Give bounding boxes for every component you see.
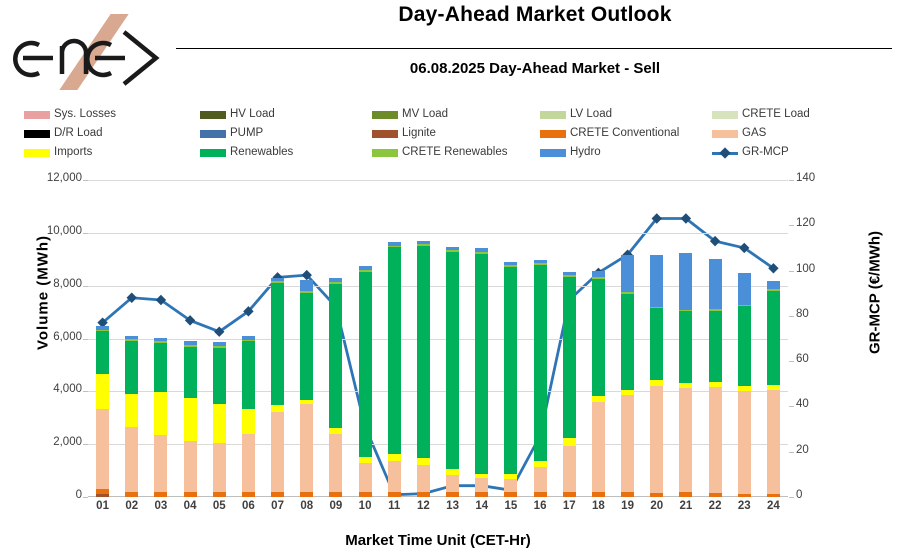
legend-item-d-r-load[interactable]: D/R Load: [24, 125, 103, 143]
y-axis-left-tickmark: [83, 391, 88, 392]
bar-segment-gas: [504, 479, 517, 492]
bar-segment-crete-conventional: [125, 492, 138, 497]
bar-segment-imports: [184, 398, 197, 442]
y-axis-right-tickmark: [789, 271, 794, 272]
legend-item-label: CRETE Renewables: [402, 147, 507, 159]
mcp-marker-24[interactable]: [768, 263, 778, 273]
bar-segment-gas: [592, 402, 605, 492]
bar-segment-imports: [125, 394, 138, 427]
x-axis-tick-20: 20: [643, 500, 671, 512]
bar-hour-19[interactable]: [621, 255, 634, 497]
legend-item-renewables[interactable]: Renewables: [200, 144, 293, 162]
y-axis-left-tickmark: [83, 233, 88, 234]
bar-segment-crete-conventional: [475, 492, 488, 497]
bar-hour-12[interactable]: [417, 241, 430, 497]
bar-segment-crete-conventional: [679, 492, 692, 497]
stacked-bar-chart: Volume (MWh) GR-MCP (€/MWh) Market Time …: [0, 164, 908, 558]
y-axis-right-tickmark: [789, 361, 794, 362]
bar-segment-renewables: [388, 247, 401, 454]
y-axis-left-tickmark: [83, 180, 88, 181]
x-axis-tick-16: 16: [526, 500, 554, 512]
x-axis-tick-04: 04: [176, 500, 204, 512]
legend-item-crete-load[interactable]: CRETE Load: [712, 106, 810, 124]
legend-item-pump[interactable]: PUMP: [200, 125, 263, 143]
bar-segment-crete-conventional: [767, 494, 780, 497]
bar-segment-gas: [738, 391, 751, 494]
bar-segment-imports: [388, 454, 401, 461]
mcp-marker-08[interactable]: [302, 270, 312, 280]
y-axis-right-tick: 20: [796, 444, 836, 456]
legend-item-imports[interactable]: Imports: [24, 144, 92, 162]
mcp-marker-03[interactable]: [156, 295, 166, 305]
bar-segment-crete-conventional: [504, 492, 517, 497]
legend-item-gr-mcp[interactable]: GR-MCP: [712, 144, 789, 162]
bar-segment-imports: [154, 392, 167, 435]
bar-segment-crete-conventional: [359, 492, 372, 497]
bar-segment-gas: [679, 388, 692, 493]
enex-logo-mark: [6, 14, 172, 90]
bar-hour-02[interactable]: [125, 336, 138, 497]
bar-segment-crete-conventional: [592, 492, 605, 497]
legend-swatch: [372, 130, 398, 138]
bar-segment-renewables: [504, 267, 517, 475]
bar-segment-renewables: [184, 347, 197, 398]
bar-segment-renewables: [329, 284, 342, 428]
bar-hour-09[interactable]: [329, 278, 342, 497]
legend-swatch: [540, 130, 566, 138]
bar-segment-gas: [650, 386, 663, 493]
bar-segment-gas: [709, 387, 722, 493]
bar-segment-crete-conventional: [184, 492, 197, 497]
x-axis-tick-24: 24: [759, 500, 787, 512]
legend-item-label: Sys. Losses: [54, 109, 116, 121]
legend-swatch: [712, 111, 738, 119]
legend-item-label: GAS: [742, 128, 766, 140]
gridline: [88, 233, 788, 234]
bar-segment-gas: [417, 465, 430, 492]
bar-segment-renewables: [563, 277, 576, 438]
bar-segment-gas: [388, 461, 401, 492]
y-axis-right-tick: 0: [796, 489, 836, 501]
mcp-marker-05[interactable]: [214, 327, 224, 337]
legend-swatch: [540, 149, 566, 157]
bar-segment-crete-conventional: [650, 493, 663, 497]
bar-segment-gas: [213, 443, 226, 492]
bar-segment-renewables: [271, 283, 284, 405]
bar-segment-renewables: [679, 311, 692, 382]
bar-segment-hydro: [767, 281, 780, 289]
plot-area: [88, 180, 788, 497]
legend-row-1: Sys. LossesHV LoadMV LoadLV LoadCRETE Lo…: [0, 106, 908, 124]
y-axis-right-tick: 60: [796, 353, 836, 365]
bar-segment-crete-conventional: [388, 492, 401, 497]
x-axis-tick-21: 21: [672, 500, 700, 512]
mcp-marker-06[interactable]: [243, 306, 253, 316]
mcp-marker-23[interactable]: [739, 243, 749, 253]
y-axis-right-tickmark: [789, 406, 794, 407]
y-axis-right-tickmark: [789, 497, 794, 498]
bar-segment-crete-conventional: [534, 492, 547, 497]
x-axis-tick-14: 14: [468, 500, 496, 512]
bar-segment-renewables: [621, 294, 634, 390]
bar-segment-imports: [563, 438, 576, 446]
x-axis-tick-08: 08: [293, 500, 321, 512]
y-axis-left-tickmark: [83, 339, 88, 340]
y-axis-right-tick: 100: [796, 263, 836, 275]
bar-segment-renewables: [446, 252, 459, 469]
x-axis-tick-05: 05: [205, 500, 233, 512]
mcp-marker-22[interactable]: [710, 236, 720, 246]
bar-segment-crete-conventional: [154, 492, 167, 497]
bar-segment-renewables: [96, 331, 109, 373]
mcp-marker-21[interactable]: [681, 213, 691, 223]
bar-segment-crete-conventional: [329, 492, 342, 497]
y-axis-right-label: GR-MCP (€/MWh): [867, 188, 884, 398]
legend-item-label: Lignite: [402, 128, 436, 140]
bar-hour-06[interactable]: [242, 336, 255, 497]
legend-item-label: Imports: [54, 147, 92, 159]
legend-item-crete-conventional[interactable]: CRETE Conventional: [540, 125, 679, 143]
bar-segment-renewables: [213, 348, 226, 405]
y-axis-left-tick: 12,000: [26, 172, 82, 184]
bar-segment-renewables: [738, 306, 751, 385]
enex-logo: [6, 14, 172, 90]
bar-hour-22[interactable]: [709, 259, 722, 497]
bar-hour-11[interactable]: [388, 242, 401, 497]
mcp-line-path: [103, 218, 774, 494]
y-axis-right-tick: 40: [796, 398, 836, 410]
legend-swatch: [24, 111, 50, 119]
legend-swatch: [200, 130, 226, 138]
bar-segment-gas: [329, 434, 342, 492]
y-axis-right-tick: 140: [796, 172, 836, 184]
x-axis-tick-15: 15: [497, 500, 525, 512]
legend-item-label: HV Load: [230, 109, 275, 121]
bar-segment-renewables: [475, 254, 488, 474]
bar-segment-crete-conventional: [563, 492, 576, 497]
y-axis-left-tickmark: [83, 286, 88, 287]
y-axis-left-tick: 4,000: [26, 383, 82, 395]
legend-swatch: [24, 149, 50, 157]
legend-swatch: [200, 111, 226, 119]
bar-segment-renewables: [417, 246, 430, 458]
bar-segment-imports: [213, 404, 226, 443]
bar-segment-imports: [271, 405, 284, 412]
bar-segment-crete-conventional: [446, 492, 459, 497]
bar-hour-21[interactable]: [679, 253, 692, 497]
bar-segment-gas: [621, 395, 634, 492]
bar-segment-gas: [184, 441, 197, 492]
bar-hour-20[interactable]: [650, 255, 663, 497]
page-title: Day-Ahead Market Outlook: [175, 3, 895, 27]
legend-item-label: Hydro: [570, 147, 601, 159]
bar-hour-03[interactable]: [154, 338, 167, 497]
bar-hour-15[interactable]: [504, 262, 517, 498]
page-subtitle: 06.08.2025 Day-Ahead Market - Sell: [175, 60, 895, 77]
legend-item-label: D/R Load: [54, 128, 103, 140]
legend-item-label: GR-MCP: [742, 147, 789, 159]
bar-segment-renewables: [592, 279, 605, 396]
legend-row-2: D/R LoadPUMPLigniteCRETE ConventionalGAS: [0, 125, 908, 143]
y-axis-right-tickmark: [789, 225, 794, 226]
x-axis-tick-17: 17: [555, 500, 583, 512]
y-axis-right-tickmark: [789, 316, 794, 317]
x-axis-label: Market Time Unit (CET-Hr): [88, 532, 788, 549]
y-axis-left-tickmark: [83, 497, 88, 498]
bar-segment-hydro: [300, 280, 313, 291]
bar-segment-gas: [475, 478, 488, 492]
bar-segment-renewables: [125, 341, 138, 394]
bar-segment-hydro: [709, 259, 722, 309]
legend-item-crete-renewables[interactable]: CRETE Renewables: [372, 144, 507, 162]
legend-swatch: [372, 111, 398, 119]
bar-hour-08[interactable]: [300, 280, 313, 497]
x-axis-tick-10: 10: [351, 500, 379, 512]
bar-segment-lignite: [96, 494, 109, 497]
legend-swatch: [540, 111, 566, 119]
bar-hour-01[interactable]: [96, 326, 109, 497]
bar-hour-16[interactable]: [534, 260, 547, 497]
legend-item-hv-load[interactable]: HV Load: [200, 106, 275, 124]
legend-item-gas[interactable]: GAS: [712, 125, 766, 143]
y-axis-left-tick: 8,000: [26, 278, 82, 290]
bar-segment-renewables: [359, 272, 372, 457]
y-axis-left-tick: 0: [26, 489, 82, 501]
bar-segment-gas: [446, 475, 459, 492]
mcp-marker-20[interactable]: [652, 213, 662, 223]
bar-segment-renewables: [534, 265, 547, 461]
bar-segment-hydro: [738, 273, 751, 305]
legend-item-label: PUMP: [230, 128, 263, 140]
legend-item-label: CRETE Conventional: [570, 128, 679, 140]
bar-hour-18[interactable]: [592, 271, 605, 497]
bar-hour-17[interactable]: [563, 272, 576, 497]
x-axis-tick-09: 09: [322, 500, 350, 512]
bar-segment-imports: [592, 396, 605, 403]
bar-segment-gas: [563, 446, 576, 492]
bar-segment-crete-conventional: [417, 492, 430, 497]
bar-hour-10[interactable]: [359, 266, 372, 497]
y-axis-right-tickmark: [789, 180, 794, 181]
bar-segment-renewables: [650, 308, 663, 380]
bar-segment-gas: [359, 463, 372, 492]
legend-item-label: Renewables: [230, 147, 293, 159]
x-axis-tick-13: 13: [439, 500, 467, 512]
bar-segment-hydro: [650, 255, 663, 307]
bar-segment-renewables: [767, 291, 780, 385]
bar-segment-gas: [767, 390, 780, 494]
bar-segment-imports: [417, 458, 430, 465]
bar-hour-24[interactable]: [767, 281, 780, 497]
bar-segment-imports: [242, 409, 255, 435]
y-axis-right-tick: 120: [796, 217, 836, 229]
legend-line-marker-icon: [712, 148, 738, 158]
x-axis-tick-06: 06: [234, 500, 262, 512]
legend-item-label: MV Load: [402, 109, 448, 121]
header-divider: [176, 48, 892, 49]
legend-item-hydro[interactable]: Hydro: [540, 144, 601, 162]
x-axis-tick-23: 23: [730, 500, 758, 512]
bar-segment-crete-conventional: [213, 492, 226, 497]
gridline: [88, 180, 788, 181]
bar-segment-gas: [242, 434, 255, 492]
bar-segment-gas: [534, 467, 547, 492]
x-axis-tick-19: 19: [614, 500, 642, 512]
y-axis-left-tick: 10,000: [26, 225, 82, 237]
bar-segment-renewables: [242, 341, 255, 408]
x-axis-tick-02: 02: [118, 500, 146, 512]
bar-segment-imports: [96, 374, 109, 409]
bar-hour-13[interactable]: [446, 247, 459, 497]
mcp-marker-04[interactable]: [185, 315, 195, 325]
x-axis-tick-11: 11: [380, 500, 408, 512]
y-axis-left-tickmark: [83, 444, 88, 445]
x-axis-tick-22: 22: [701, 500, 729, 512]
bar-hour-05[interactable]: [213, 342, 226, 497]
bar-segment-crete-conventional: [738, 494, 751, 497]
x-axis-tick-07: 07: [264, 500, 292, 512]
bar-segment-gas: [271, 412, 284, 492]
bar-segment-hydro: [679, 253, 692, 310]
bar-segment-crete-conventional: [621, 492, 634, 497]
x-axis-tick-01: 01: [89, 500, 117, 512]
mcp-marker-02[interactable]: [127, 293, 137, 303]
legend-item-sys-losses[interactable]: Sys. Losses: [24, 106, 116, 124]
legend-swatch: [24, 130, 50, 138]
legend-row-3: ImportsRenewablesCRETE RenewablesHydroGR…: [0, 144, 908, 162]
y-axis-right-tick: 80: [796, 308, 836, 320]
legend-item-label: CRETE Load: [742, 109, 810, 121]
legend-item-mv-load[interactable]: MV Load: [372, 106, 448, 124]
bar-segment-gas: [154, 435, 167, 493]
legend-swatch: [200, 149, 226, 157]
bar-segment-crete-conventional: [271, 492, 284, 497]
x-axis-tick-03: 03: [147, 500, 175, 512]
bar-segment-renewables: [300, 293, 313, 400]
legend-swatch: [372, 149, 398, 157]
x-axis-tick-12: 12: [409, 500, 437, 512]
bar-segment-crete-conventional: [709, 493, 722, 497]
legend-swatch: [712, 130, 738, 138]
y-axis-right-tickmark: [789, 452, 794, 453]
bar-segment-crete-conventional: [242, 492, 255, 497]
legend-item-lignite[interactable]: Lignite: [372, 125, 436, 143]
bar-segment-gas: [125, 427, 138, 493]
y-axis-left-tick: 6,000: [26, 331, 82, 343]
chart-legend: Sys. LossesHV LoadMV LoadLV LoadCRETE Lo…: [0, 104, 908, 164]
page-header: Day-Ahead Market Outlook 06.08.2025 Day-…: [0, 0, 908, 100]
y-axis-left-tick: 2,000: [26, 436, 82, 448]
bar-segment-gas: [300, 404, 313, 492]
bar-hour-07[interactable]: [271, 278, 284, 497]
bar-segment-gas: [96, 409, 109, 490]
legend-item-lv-load[interactable]: LV Load: [540, 106, 612, 124]
bar-segment-renewables: [154, 343, 167, 392]
legend-item-label: LV Load: [570, 109, 612, 121]
bar-hour-14[interactable]: [475, 248, 488, 497]
bar-hour-04[interactable]: [184, 341, 197, 497]
x-axis-tick-18: 18: [584, 500, 612, 512]
bar-segment-hydro: [621, 255, 634, 292]
bar-segment-renewables: [709, 311, 722, 382]
bar-segment-crete-conventional: [300, 492, 313, 497]
bar-hour-23[interactable]: [738, 273, 751, 497]
